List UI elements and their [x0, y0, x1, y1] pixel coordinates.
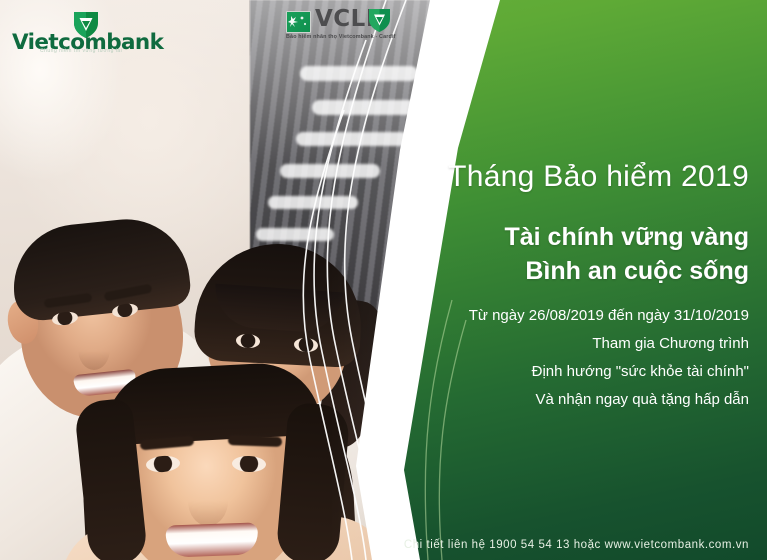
campaign-program-name: Định hướng "sức khỏe tài chính" — [409, 358, 749, 386]
blind-slat — [312, 100, 416, 115]
mother-eyebrow-right — [228, 435, 282, 447]
vcli-subtitle: Bảo hiểm nhân thọ Vietcombank - Cardif — [286, 34, 396, 40]
campaign-headline: Tháng Bảo hiểm 2019 — [409, 160, 749, 194]
mother-hair-right — [275, 402, 351, 560]
vcli-logo[interactable]: VCLI Bảo hiểm nhân thọ Vietcombank - Car… — [286, 6, 390, 48]
blind-slat — [280, 164, 380, 178]
blind-slat — [268, 196, 358, 209]
mother-nose — [188, 476, 228, 526]
campaign-period: Từ ngày 26/08/2019 đến ngày 31/10/2019 — [409, 302, 749, 330]
subheadline-line-1: Tài chính vững vàng — [409, 220, 749, 254]
campaign-subheadline: Tài chính vững vàng Bình an cuộc sống — [409, 220, 749, 288]
campaign-join-line: Tham gia Chương trình — [409, 330, 749, 358]
father-nose — [78, 328, 110, 370]
vietcombank-logo[interactable]: Vietcombank Chung niềm tin vững tương la… — [10, 8, 145, 54]
cardif-star-glyph — [287, 12, 310, 32]
blind-slat — [256, 228, 334, 241]
vcli-shield-mark — [368, 7, 391, 33]
cardif-square-mark — [286, 11, 311, 33]
campaign-body: Từ ngày 26/08/2019 đến ngày 31/10/2019 T… — [409, 302, 749, 414]
contact-footer[interactable]: Chi tiết liên hệ 1900 54 54 13 hoặc www.… — [349, 539, 749, 551]
insurance-campaign-banner: Vietcombank Chung niềm tin vững tương la… — [0, 0, 767, 560]
vietcombank-tagline: Chung niềm tin vững tương lai — [40, 48, 122, 54]
mother-smile — [165, 522, 258, 557]
vcli-wordmark: VCLI — [315, 6, 375, 32]
subheadline-line-2: Bình an cuộc sống — [409, 254, 749, 288]
campaign-gift-line: Và nhận ngay quà tặng hấp dẫn — [409, 386, 749, 414]
blind-slat — [300, 66, 418, 81]
blind-slat — [296, 132, 408, 146]
